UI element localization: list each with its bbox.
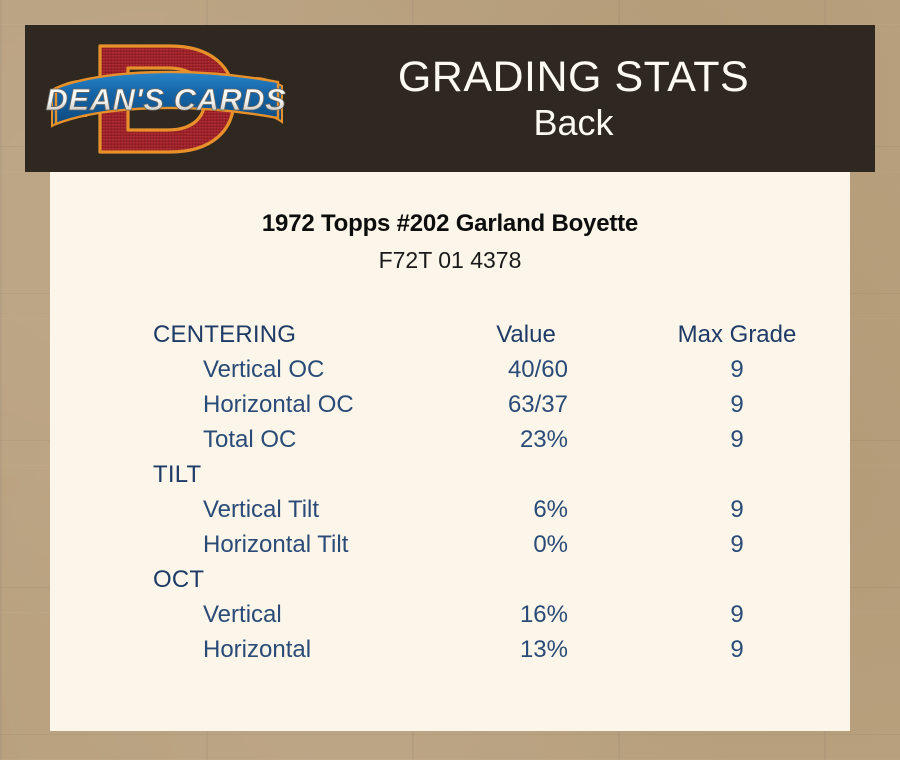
page-title: GRADING STATS	[292, 55, 855, 100]
section-spacer-grade	[620, 454, 850, 489]
stat-label: Total OC	[50, 419, 440, 454]
logo-wordmark: DEAN'S CARDS	[46, 82, 287, 117]
table-row: Horizontal OC63/379	[50, 384, 850, 419]
stat-value: 63/37	[440, 384, 620, 419]
stat-max-grade: 9	[620, 419, 850, 454]
section-spacer-grade	[620, 559, 850, 594]
card-title: 1972 Topps #202 Garland Boyette	[50, 210, 850, 238]
stat-max-grade: 9	[620, 384, 850, 419]
section-header: TILT	[50, 454, 440, 489]
stat-label: Horizontal	[50, 629, 440, 664]
table-row: Horizontal13%9	[50, 629, 850, 664]
column-header-value: Value	[440, 314, 620, 349]
stat-value: 0%	[440, 524, 620, 559]
section-header: CENTERING	[50, 314, 440, 349]
page-subtitle: Back	[292, 104, 855, 141]
header-title-block: GRADING STATS Back	[292, 55, 875, 141]
grading-stats-table: CENTERINGValueMax GradeVertical OC40/609…	[50, 314, 850, 664]
stat-label: Vertical	[50, 594, 440, 629]
table-section-row: OCT	[50, 559, 850, 594]
stat-value: 16%	[440, 594, 620, 629]
column-header-max-grade: Max Grade	[620, 314, 850, 349]
stat-max-grade: 9	[620, 629, 850, 664]
logo-graphic: DEAN'S CARDS	[42, 34, 292, 164]
stat-max-grade: 9	[620, 524, 850, 559]
table-row: Horizontal Tilt0%9	[50, 524, 850, 559]
stat-label: Vertical OC	[50, 349, 440, 384]
stat-value: 23%	[440, 419, 620, 454]
stat-max-grade: 9	[620, 349, 850, 384]
page-header: DEAN'S CARDS GRADING STATS Back	[25, 25, 875, 172]
table-row: Vertical16%9	[50, 594, 850, 629]
stat-label: Horizontal OC	[50, 384, 440, 419]
content-panel: 1972 Topps #202 Garland Boyette F72T 01 …	[50, 172, 850, 731]
stat-max-grade: 9	[620, 489, 850, 524]
section-spacer-value	[440, 559, 620, 594]
stat-label: Horizontal Tilt	[50, 524, 440, 559]
stat-value: 13%	[440, 629, 620, 664]
table-row: Vertical OC40/609	[50, 349, 850, 384]
table-row: Total OC23%9	[50, 419, 850, 454]
card-serial-number: F72T 01 4378	[50, 247, 850, 274]
deans-cards-logo: DEAN'S CARDS	[42, 34, 292, 164]
table-header-row: CENTERINGValueMax Grade	[50, 314, 850, 349]
section-spacer-value	[440, 454, 620, 489]
stat-value: 40/60	[440, 349, 620, 384]
table-section-row: TILT	[50, 454, 850, 489]
stat-max-grade: 9	[620, 594, 850, 629]
section-header: OCT	[50, 559, 440, 594]
table-row: Vertical Tilt6%9	[50, 489, 850, 524]
stat-value: 6%	[440, 489, 620, 524]
stat-label: Vertical Tilt	[50, 489, 440, 524]
